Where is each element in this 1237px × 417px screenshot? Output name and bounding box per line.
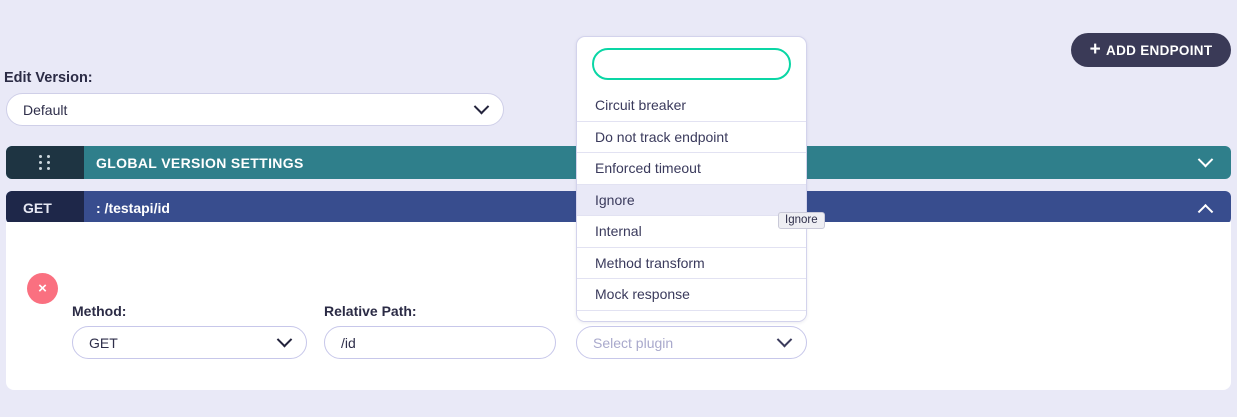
plugin-option[interactable]: Enforced timeout [577, 152, 806, 184]
endpoint-method-badge: GET [6, 191, 84, 224]
plugin-field: Select plugin [576, 326, 807, 359]
chevron-down-icon [277, 332, 293, 348]
relative-path-input[interactable]: /id [324, 326, 556, 359]
plugin-option[interactable]: Internal [577, 215, 806, 247]
relative-path-value: /id [341, 335, 539, 351]
delete-endpoint-button[interactable]: × [27, 273, 58, 304]
plugin-search-input[interactable] [592, 48, 791, 80]
chevron-down-icon [1197, 152, 1213, 168]
plugin-option[interactable]: Modify headers [577, 310, 806, 323]
drag-dots-icon [39, 155, 51, 171]
chevron-up-icon [1197, 204, 1213, 220]
relative-path-label: Relative Path: [324, 303, 556, 319]
plugin-placeholder: Select plugin [593, 335, 779, 351]
method-value: GET [89, 335, 279, 351]
plugin-option-tooltip: Ignore [778, 212, 825, 229]
method-label: Method: [72, 303, 307, 319]
plugin-option-list: Circuit breaker Do not track endpoint En… [577, 89, 806, 322]
drag-handle-icon[interactable] [6, 146, 84, 179]
plugin-search-wrapper [577, 37, 806, 89]
add-endpoint-label: ADD ENDPOINT [1106, 43, 1212, 58]
relative-path-field: Relative Path: /id [324, 303, 556, 359]
edit-version-label: Edit Version: [4, 70, 93, 86]
plugin-option[interactable]: Mock response [577, 278, 806, 310]
chevron-down-icon [777, 332, 793, 348]
chevron-down-icon [474, 99, 490, 115]
plugin-option-highlighted[interactable]: Ignore [577, 184, 806, 216]
method-field: Method: GET [72, 303, 307, 359]
plugin-option[interactable]: Method transform [577, 247, 806, 279]
plugin-option[interactable]: Circuit breaker [577, 89, 806, 121]
plugin-option[interactable]: Do not track endpoint [577, 121, 806, 153]
plugin-dropdown-panel: Circuit breaker Do not track endpoint En… [576, 36, 807, 322]
add-endpoint-button[interactable]: + ADD ENDPOINT [1071, 33, 1231, 67]
endpoint-bar-toggle[interactable] [1179, 191, 1231, 224]
global-bar-toggle[interactable] [1179, 146, 1231, 179]
edit-version-value: Default [23, 102, 476, 118]
plus-icon: + [1090, 40, 1101, 59]
plugin-select[interactable]: Select plugin [576, 326, 807, 359]
edit-version-select[interactable]: Default [6, 93, 504, 126]
method-select[interactable]: GET [72, 326, 307, 359]
